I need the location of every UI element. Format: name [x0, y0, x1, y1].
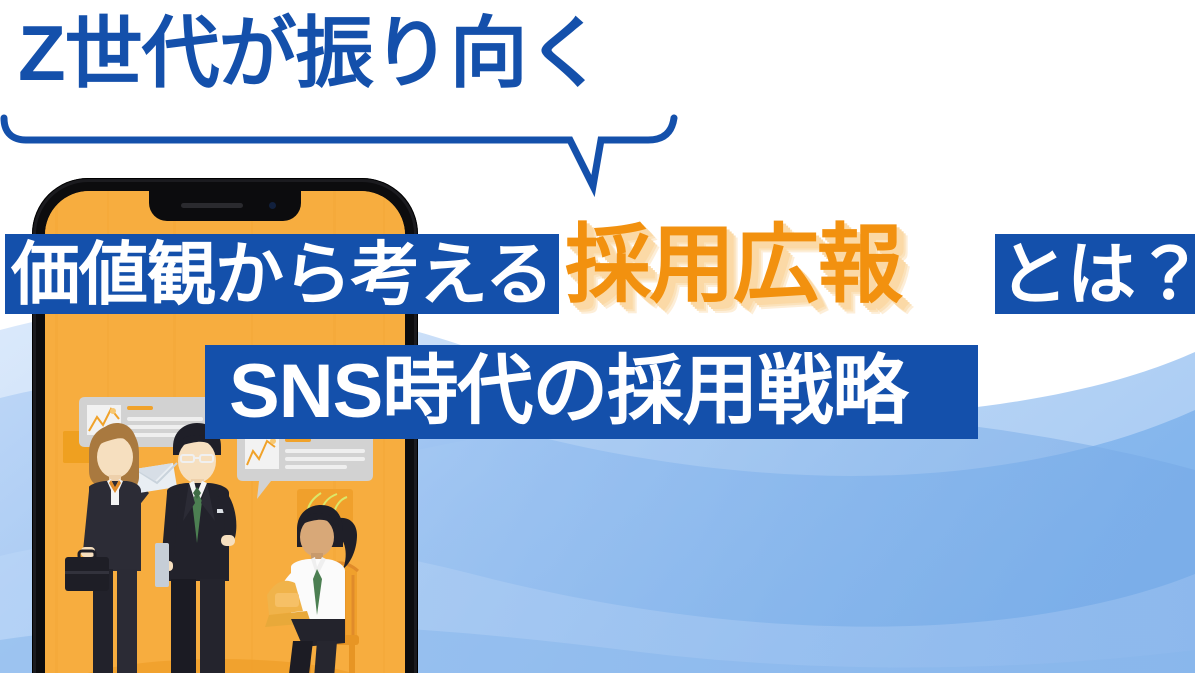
speech-bubble-bracket: [0, 100, 700, 210]
headline-emphasis-saiyo-koho: 採用広報: [565, 222, 901, 308]
briefcase: [65, 551, 109, 591]
headline-band-value: 価値観から考える: [5, 234, 559, 314]
tablet: [155, 543, 169, 587]
headline-band-toha: とは？: [995, 234, 1195, 314]
poster-canvas: Z世代が振り向く 価値観から考える 採用広報 とは？ SNS時代の採用戦略: [0, 0, 1195, 673]
headline-band-sns: SNS時代の採用戦略: [205, 345, 978, 439]
kicker-headline: Z世代が振り向く: [18, 14, 604, 92]
